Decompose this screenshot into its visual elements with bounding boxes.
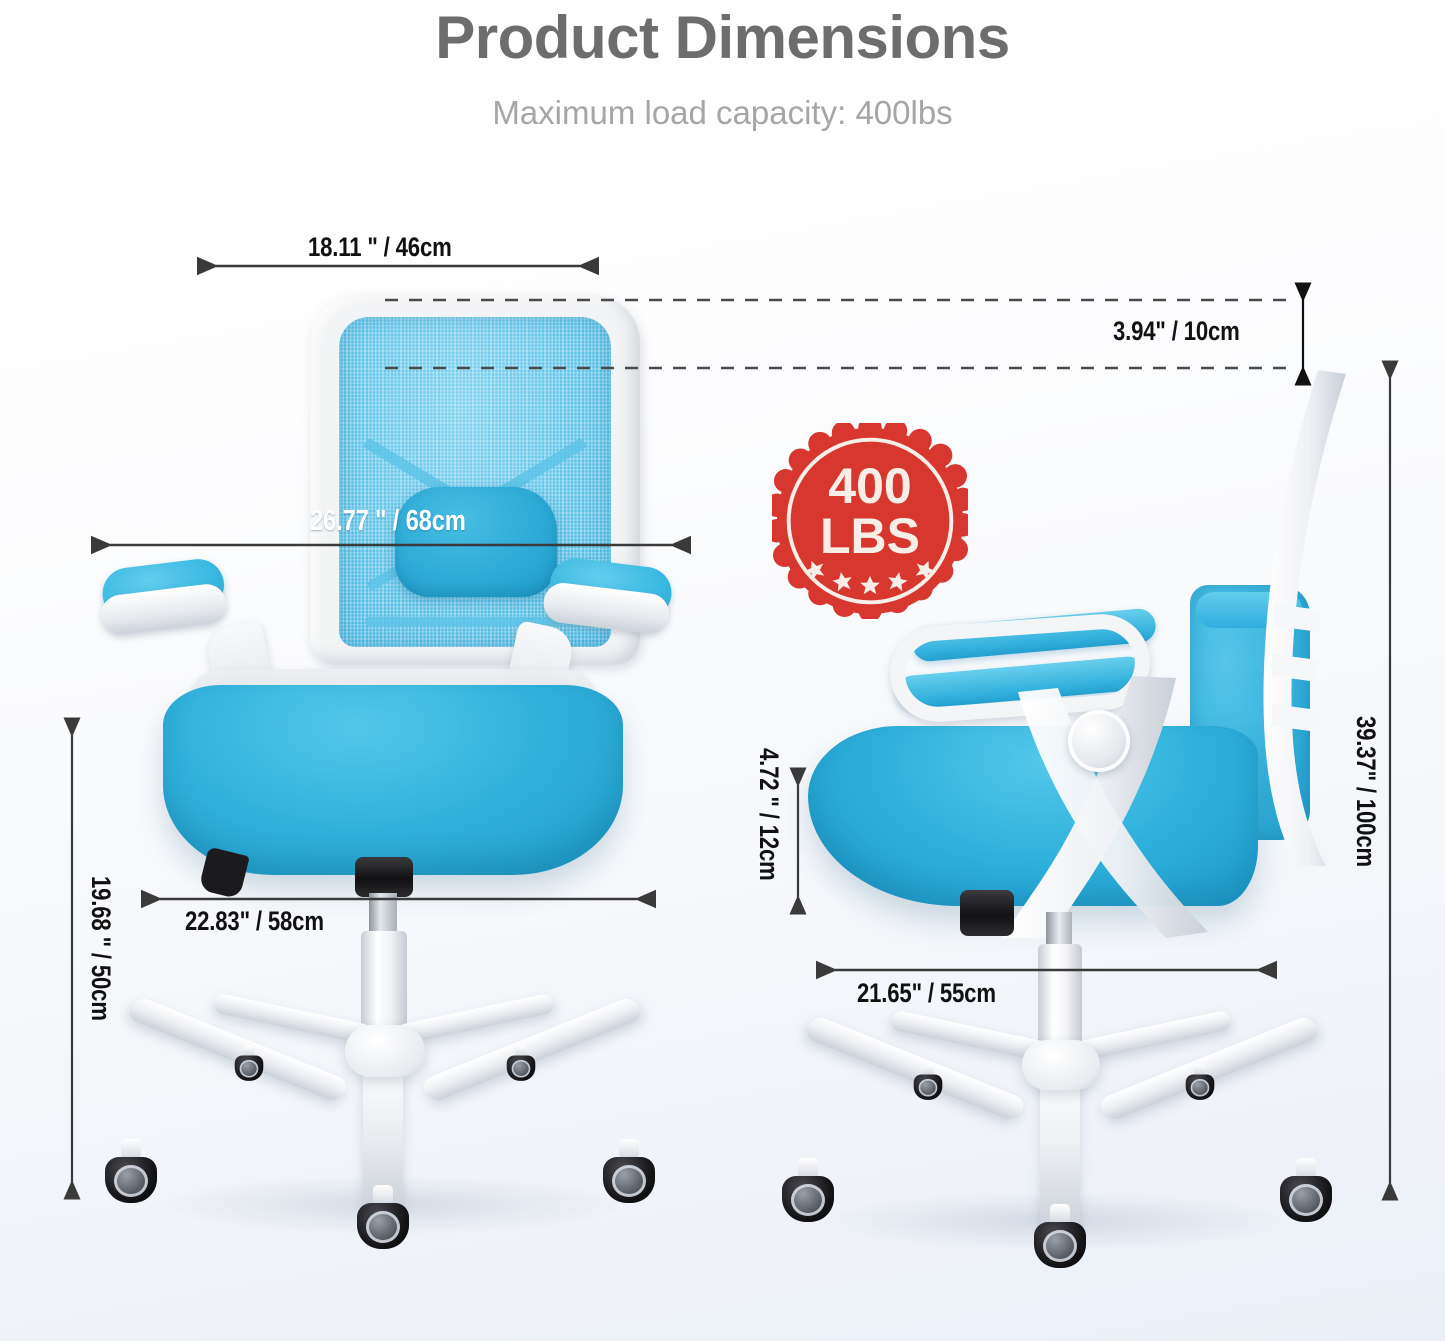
badge-weight-unit: LBS xyxy=(772,511,968,561)
lumbar-support xyxy=(395,487,557,597)
dim-seat-thickness: 4.72 " / 12cm xyxy=(753,748,784,881)
caster-mid-left xyxy=(235,1051,264,1081)
caster-side-right xyxy=(1280,1168,1332,1222)
base-hub-side xyxy=(1022,1040,1100,1090)
caster-far-right xyxy=(603,1149,655,1203)
page-subtitle: Maximum load capacity: 400lbs xyxy=(0,68,1445,132)
caster-center-front xyxy=(357,1195,409,1249)
load-capacity-badge: 400 LBS xyxy=(772,423,968,619)
front-view-chair xyxy=(95,295,685,1235)
gas-cylinder-collar-side xyxy=(960,890,1014,936)
dim-overall-height: 39.37" / 100cm xyxy=(1350,716,1381,867)
gas-cylinder-rod xyxy=(369,893,397,935)
dim-armrest-clearance: 3.94" / 10cm xyxy=(1113,316,1240,347)
badge-weight-value: 400 xyxy=(772,461,968,511)
caster-far-left xyxy=(105,1149,157,1203)
backrest-spine-frame xyxy=(1242,368,1362,878)
caster-side-center xyxy=(1034,1214,1086,1268)
dim-overall-depth: 21.65" / 55cm xyxy=(857,978,996,1009)
caster-side-mid-left xyxy=(914,1070,943,1100)
product-dimensions-diagram: Product Dimensions Maximum load capacity… xyxy=(0,0,1445,1341)
header: Product Dimensions Maximum load capacity… xyxy=(0,0,1445,132)
gas-cylinder-collar xyxy=(355,857,413,897)
base-hub xyxy=(345,1025,425,1077)
gas-cylinder-rod-side xyxy=(1046,912,1072,948)
tilt-tension-knob xyxy=(1068,710,1130,772)
page-title: Product Dimensions xyxy=(0,0,1445,68)
seat-cushion xyxy=(163,685,623,875)
armrest-left xyxy=(100,555,235,634)
dim-seat-height: 19.68 " / 50cm xyxy=(85,876,116,1021)
dim-base-width: 22.83" / 58cm xyxy=(185,906,324,937)
armrest-right xyxy=(546,555,681,634)
caster-mid-right xyxy=(507,1051,536,1081)
height-adjust-lever xyxy=(198,847,249,900)
dim-overall-width: 26.77 " / 68cm xyxy=(310,505,466,538)
caster-side-mid-right xyxy=(1186,1070,1215,1100)
caster-side-left xyxy=(782,1168,834,1222)
dim-back-width: 18.11 " / 46cm xyxy=(308,232,452,263)
